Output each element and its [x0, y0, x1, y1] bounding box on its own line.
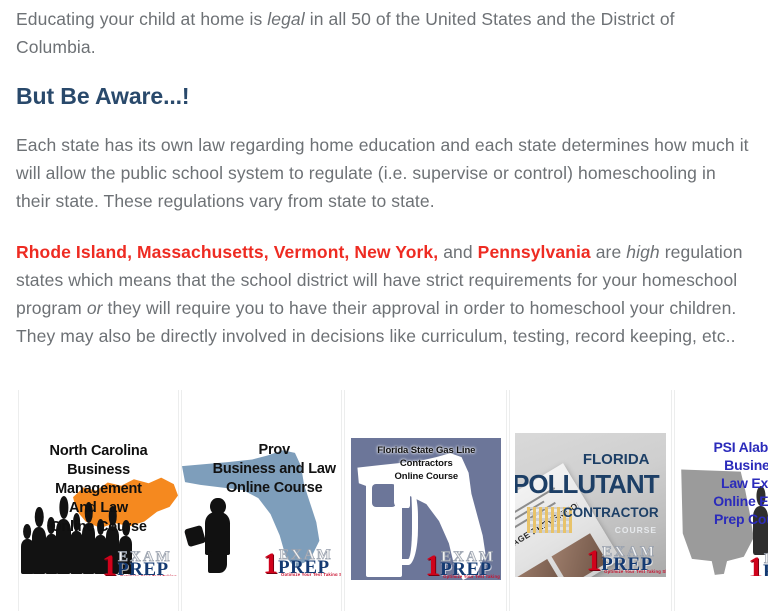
high-regulation-state-list: Rhode Island, Massachusetts, Vermont, Ne…: [16, 242, 438, 262]
logo-word-prep: PREP: [763, 561, 768, 576]
product-thumbnail-gas-line-contractors: Florida State Gas Line Contractors Onlin…: [345, 432, 506, 580]
card-title-gas-line-contractors: Florida State Gas Line Contractors Onlin…: [351, 444, 501, 483]
title-line-2: Business and Law: [207, 460, 341, 479]
pollutant-title-line-1: FLORIDA: [583, 451, 650, 468]
title-line-2: Business: [19, 461, 178, 480]
logo-numeral: 1: [586, 547, 601, 575]
pollutant-title-line-4: COURSE: [615, 525, 657, 535]
product-card-prov-business-and-law[interactable]: Prov Business and Law Online Course 1 EX…: [181, 390, 342, 611]
logo-numeral: 1: [102, 552, 117, 576]
card-title-psi-alabama: PSI Alabama Business Law Exam Online Exa…: [675, 438, 768, 528]
article-body: Educating your child at home is legal in…: [16, 0, 752, 373]
regulation-tail-text: they will require you to have their appr…: [16, 298, 736, 346]
pollutant-title-line-3: CONTRACTOR: [563, 505, 659, 520]
card-title-north-carolina: North Carolina Business Management And L…: [19, 442, 178, 537]
conjunction-and: and: [438, 242, 477, 262]
title-line-3: Online Course: [207, 479, 341, 498]
section-heading-but-be-aware: But Be Aware...!: [16, 81, 752, 111]
gas-pump-icon: [366, 475, 429, 577]
title-line-1: North Carolina: [19, 442, 178, 461]
product-card-florida-gas-line-contractors[interactable]: Florida State Gas Line Contractors Onlin…: [344, 390, 507, 611]
logo-numeral: 1: [425, 552, 440, 580]
logo-tagline: Optimize Your Test Taking Skills: [443, 574, 501, 579]
high-regulation-state-pennsylvania: Pennsylvania: [478, 242, 591, 262]
title-line-1: PSI Alabama: [675, 438, 768, 456]
title-line-5: Prep Course: [675, 510, 768, 528]
title-line-4: And Law: [19, 499, 178, 518]
damage-prevention-guide-photo: DAMAGE PREVENTION GUIDE FLORIDA POLLUTAN…: [515, 433, 666, 577]
product-card-psi-alabama-business-law-exam[interactable]: PSI Alabama Business Law Exam Online Exa…: [674, 390, 768, 611]
title-line-3: Law Exam: [675, 474, 768, 492]
card-image-wrapper: DAMAGE PREVENTION GUIDE FLORIDA POLLUTAN…: [510, 428, 671, 578]
one-exam-prep-logo: 1 EXAM PREP Optimize Your Test Taking Sk…: [748, 548, 768, 576]
product-thumbnail-prov-business-law: Prov Business and Law Online Course 1 EX…: [182, 428, 341, 576]
logo-numeral: 1: [748, 554, 763, 576]
regulation-paragraph: Each state has its own law regarding hom…: [16, 131, 752, 215]
card-image-wrapper: Prov Business and Law Online Course 1 EX…: [182, 428, 341, 576]
logo-tagline: Optimize Your Test Taking Skills: [604, 569, 666, 574]
product-carousel[interactable]: North Carolina Business Management And L…: [0, 390, 768, 611]
one-exam-prep-logo: 1 EXAM PREP Optimize Your Test Taking Sk…: [586, 541, 664, 575]
intro-text-before: Educating your child at home is: [16, 9, 267, 29]
businessman-silhouette-icon: [201, 498, 236, 572]
product-card-florida-pollutant-contractor[interactable]: DAMAGE PREVENTION GUIDE FLORIDA POLLUTAN…: [509, 390, 672, 611]
one-exam-prep-logo: 1 EXAM PREP Optimize Your Test Taking Sk…: [102, 546, 178, 576]
one-exam-prep-logo: 1 EXAM PREP Optimize Your Test Taking Sk…: [425, 546, 501, 580]
page-root: Educating your child at home is legal in…: [0, 0, 768, 611]
title-line-2: Business: [675, 456, 768, 474]
product-thumbnail-north-carolina: North Carolina Business Management And L…: [19, 428, 178, 576]
emphasis-or: or: [87, 298, 103, 318]
emphasis-high: high: [626, 242, 660, 262]
logo-tagline: Optimize Your Test Taking Skills: [120, 574, 178, 576]
are-text: are: [591, 242, 627, 262]
product-card-north-carolina-business-management-law[interactable]: North Carolina Business Management And L…: [18, 390, 179, 611]
title-line-2: Online Course: [351, 470, 501, 483]
title-line-3: Management: [19, 480, 178, 499]
title-line-5: Online Course: [19, 518, 178, 537]
title-line-1: Florida State Gas Line Contractors: [351, 444, 501, 470]
slate-panel-background: Florida State Gas Line Contractors Onlin…: [351, 438, 501, 580]
one-exam-prep-logo: 1 EXAM PREP Optimize Your Test Taking Sk…: [263, 544, 341, 576]
title-line-4: Online Exam: [675, 492, 768, 510]
logo-tagline: Optimize Your Test Taking Skills: [281, 572, 341, 576]
intro-emphasis-legal: legal: [267, 9, 304, 29]
title-line-1: Prov: [207, 441, 341, 460]
product-thumbnail-florida-pollutant: DAMAGE PREVENTION GUIDE FLORIDA POLLUTAN…: [510, 428, 671, 578]
high-regulation-states-paragraph: Rhode Island, Massachusetts, Vermont, Ne…: [16, 238, 752, 350]
card-image-wrapper: North Carolina Business Management And L…: [19, 428, 178, 576]
intro-paragraph: Educating your child at home is legal in…: [16, 0, 752, 61]
card-image-wrapper: Florida State Gas Line Contractors Onlin…: [345, 432, 506, 580]
logo-numeral: 1: [263, 550, 278, 576]
card-image-wrapper: PSI Alabama Business Law Exam Online Exa…: [675, 428, 768, 576]
card-title-prov-business-law: Prov Business and Law Online Course: [182, 441, 341, 498]
pollutant-title-line-2: POLLUTANT: [515, 469, 659, 500]
product-thumbnail-psi-alabama: PSI Alabama Business Law Exam Online Exa…: [675, 428, 768, 576]
